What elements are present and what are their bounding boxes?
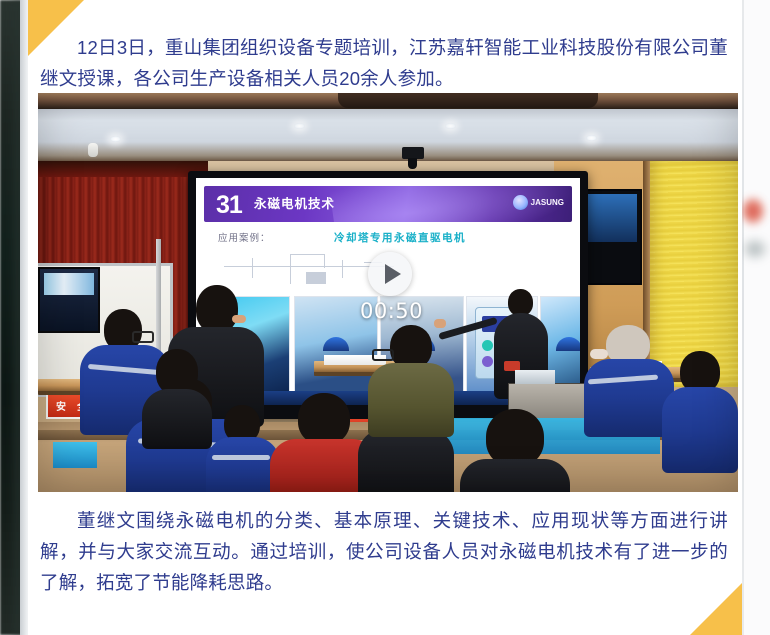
jasung-logo-icon: [513, 195, 528, 210]
slide-number: 31: [216, 188, 242, 222]
wall-wood-top-trim: [38, 159, 208, 177]
audience-member: [662, 351, 738, 471]
article-paragraph-top: 12日3日，重山集团组织设备专题培训，江苏嘉轩智能工业科技股份有限公司董继文授课…: [40, 32, 728, 94]
slide-logo-text: JASUNG: [531, 199, 564, 207]
article-paragraph-bottom: 董继文围绕永磁电机的分类、基本原理、关键技术、应用现状等方面进行讲解，并与大家交…: [40, 505, 728, 598]
ceiling-downlight-icon: [445, 123, 456, 129]
audience-member: [368, 325, 454, 431]
slide-header-band: 31 永磁电机技术 JASUNG: [204, 186, 572, 222]
ceiling-soffit-notch: [338, 93, 598, 108]
ceiling-downlight-icon: [586, 135, 597, 141]
slide-highlight-text: 冷却塔专用永磁直驱电机: [334, 230, 466, 245]
right-grey-blur: [740, 236, 770, 262]
right-edge-band: [742, 0, 770, 635]
video-duration: 00:50: [360, 299, 423, 323]
slide-logo: JASUNG: [513, 195, 564, 210]
play-button-icon[interactable]: [368, 252, 412, 296]
floor-blue-mat: [53, 442, 97, 468]
ceiling-downlight-icon: [110, 136, 121, 142]
audience-member: [206, 405, 280, 492]
article-page: 12日3日，重山集团组织设备专题培训，江苏嘉轩智能工业科技股份有限公司董继文授课…: [0, 0, 770, 635]
right-red-blur: [740, 196, 766, 226]
article-card: 12日3日，重山集团组织设备专题培训，江苏嘉轩智能工业科技股份有限公司董继文授课…: [28, 0, 742, 635]
audience-member: [142, 349, 212, 445]
ceiling: [38, 93, 738, 161]
slide-title: 永磁电机技术: [254, 195, 335, 213]
right-divider-rule: [742, 0, 744, 635]
security-camera-icon: [88, 143, 98, 157]
audience-member: [460, 409, 570, 492]
video-thumbnail[interactable]: 安全 31 永磁电机技术 JASUNG: [38, 93, 738, 492]
ceiling-projector-icon: [402, 147, 424, 159]
slide-sub-label: 应用案例：: [218, 230, 271, 244]
audience-member: [584, 325, 674, 435]
ceiling-downlight-icon: [294, 123, 305, 129]
